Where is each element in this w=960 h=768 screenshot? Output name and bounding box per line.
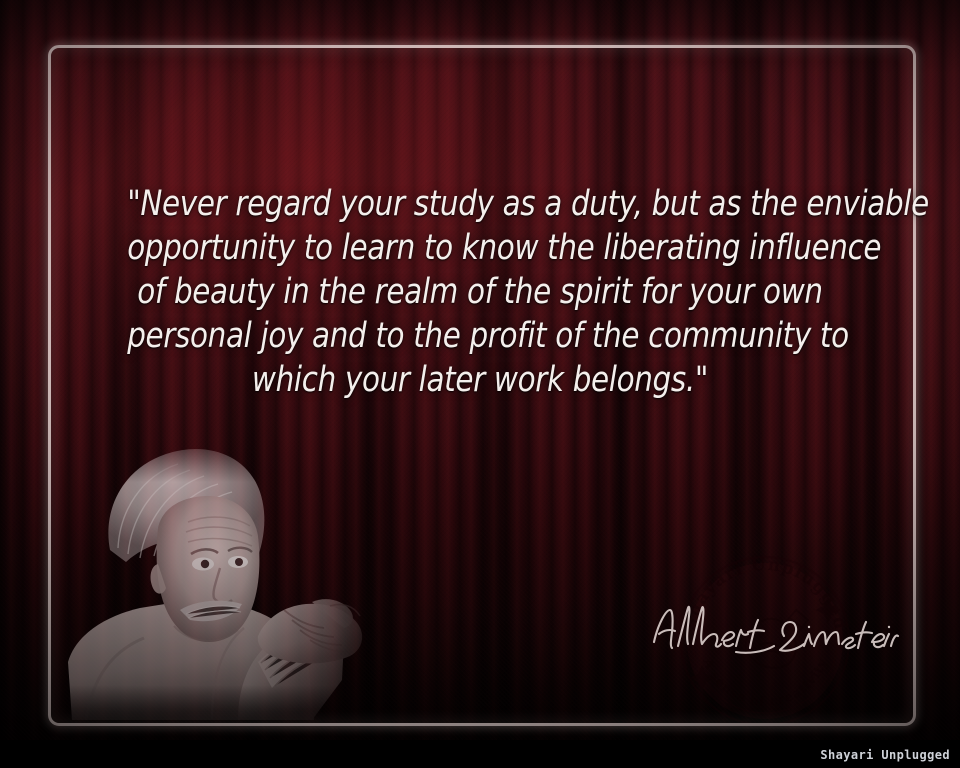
quote-poster: Shayari Unplugged A sense of creativity — [0, 0, 960, 768]
quote-text: "Never regard your study as a duty, but … — [127, 182, 833, 402]
quote-line-1: "Never regard your study as a duty, but … — [127, 182, 833, 226]
quote-line-4: personal joy and to the profit of the co… — [127, 314, 833, 358]
quote-line-3: of beauty in the realm of the spirit for… — [127, 270, 833, 314]
site-watermark: Shayari Unplugged — [820, 748, 950, 762]
einstein-portrait — [62, 430, 382, 720]
einstein-signature: Albert Einstein — [648, 596, 900, 662]
quote-line-2: opportunity to learn to know the liberat… — [127, 226, 833, 270]
quote-line-5: which your later work belongs." — [127, 358, 833, 402]
